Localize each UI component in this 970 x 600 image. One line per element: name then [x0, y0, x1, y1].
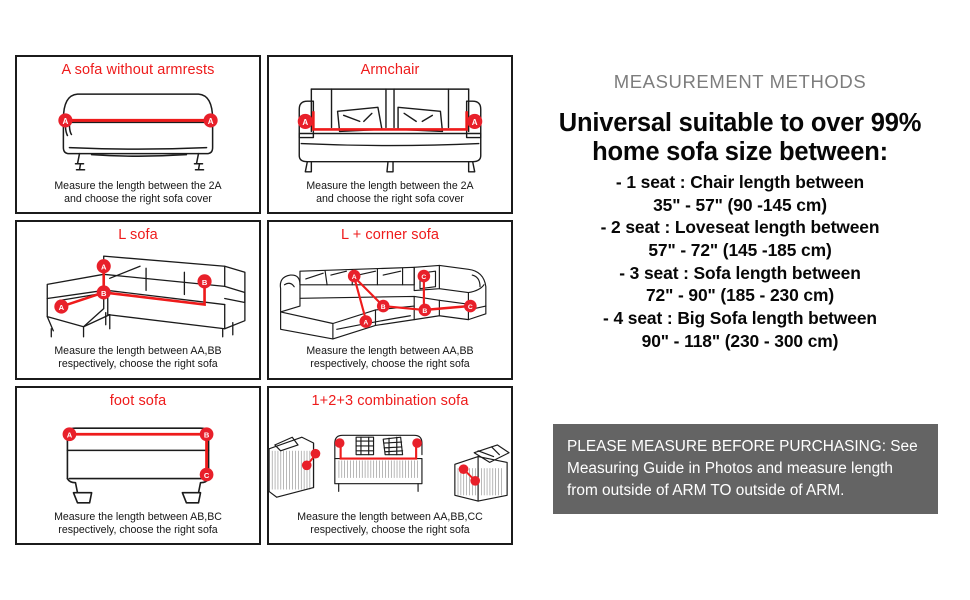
measure-marker-a-front: A	[360, 316, 373, 329]
svg-text:B: B	[204, 430, 210, 439]
infographic-root: A sofa without armrests	[0, 0, 970, 600]
svg-text:A: A	[59, 303, 65, 312]
measure-marker-c-right-chair-bottom	[470, 476, 480, 486]
sofa-type-grid: A sofa without armrests	[15, 55, 513, 545]
headline-line-2: home sofa size between:	[520, 138, 960, 167]
svg-text:A: A	[208, 117, 214, 126]
svg-text:B: B	[101, 289, 107, 298]
measure-marker-c-right: C	[464, 300, 477, 313]
svg-text:A: A	[472, 118, 478, 127]
svg-text:B: B	[422, 308, 427, 315]
measure-marker-b-right: B	[197, 275, 211, 289]
svg-text:B: B	[202, 278, 208, 287]
right-text-column: MEASUREMENT METHODS Universal suitable t…	[520, 55, 960, 555]
l-corner-sofa-illustration: A A B B C	[269, 244, 511, 345]
panel-title: L sofa	[118, 228, 158, 244]
measure-marker-a-left: A	[298, 114, 313, 129]
panel-armchair: Armchair	[267, 55, 513, 214]
svg-text:A: A	[302, 118, 308, 127]
l-sofa-illustration: A A B B	[17, 244, 259, 345]
panel-caption: Measure the length between the 2A and ch…	[48, 180, 227, 212]
panel-title: A sofa without armrests	[62, 63, 215, 79]
foot-sofa-illustration: A B C	[17, 410, 259, 511]
measure-marker-a-left-chair-top	[311, 448, 321, 458]
spec-line: - 4 seat : Big Sofa length between	[520, 307, 960, 330]
panel-title: Armchair	[361, 63, 420, 79]
spec-line: 57" - 72" (145 -185 cm)	[520, 239, 960, 262]
svg-text:A: A	[352, 274, 357, 281]
spec-line: - 2 seat : Loveseat length between	[520, 216, 960, 239]
panel-combination-sofa: 1+2+3 combination sofa	[267, 386, 513, 545]
spec-line: 35" - 57" (90 -145 cm)	[520, 194, 960, 217]
measure-marker-a-right: A	[204, 113, 218, 127]
combination-sofa-illustration	[269, 410, 511, 511]
size-spec-list: - 1 seat : Chair length between 35" - 57…	[520, 171, 960, 352]
armchair-illustration: A A	[269, 79, 511, 180]
headline-line-1: Universal suitable to over 99%	[520, 109, 960, 138]
spec-line: 90" - 118" (230 - 300 cm)	[520, 330, 960, 353]
panel-caption: Measure the length between AA,BB respect…	[48, 345, 227, 377]
measure-marker-b-sofa-right	[412, 438, 422, 448]
panel-title: L + corner sofa	[341, 228, 439, 244]
measure-marker-a: A	[63, 427, 77, 441]
panel-title: foot sofa	[110, 394, 167, 410]
svg-text:A: A	[101, 263, 107, 272]
panel-title: 1+2+3 combination sofa	[312, 394, 469, 410]
measure-marker-a-top: A	[97, 259, 111, 273]
measure-marker-b-corner: B	[97, 286, 111, 300]
spec-line: 72" - 90" (185 - 230 cm)	[520, 284, 960, 307]
page-title: Universal suitable to over 99% home sofa…	[520, 109, 960, 167]
measure-marker-b-left: B	[377, 300, 390, 313]
svg-text:A: A	[62, 117, 68, 126]
panel-l-corner-sofa: L + corner sofa	[267, 220, 513, 379]
svg-text:A: A	[363, 320, 368, 327]
measure-notice-banner: PLEASE MEASURE BEFORE PURCHASING: See Me…	[553, 424, 938, 514]
panel-caption: Measure the length between the 2A and ch…	[300, 180, 479, 212]
panel-foot-sofa: foot sofa A	[15, 386, 261, 545]
measure-marker-b-right: B	[419, 304, 432, 317]
panel-l-sofa: L sofa	[15, 220, 261, 379]
measure-marker-a-back: A	[348, 270, 361, 283]
measure-marker-c: C	[200, 467, 214, 481]
measure-marker-c-right-chair-top	[459, 464, 469, 474]
panel-caption: Measure the length between AA,BB respect…	[300, 345, 479, 377]
section-kicker: MEASUREMENT METHODS	[520, 71, 960, 93]
svg-text:B: B	[381, 304, 386, 311]
spec-line: - 1 seat : Chair length between	[520, 171, 960, 194]
measure-marker-a-chaise: A	[54, 300, 68, 314]
sofa-without-armrests-illustration: A A	[17, 79, 259, 180]
panel-caption: Measure the length between AB,BC respect…	[48, 511, 228, 543]
measure-marker-b: B	[200, 427, 214, 441]
measure-marker-a-right: A	[467, 114, 482, 129]
measure-marker-a-left: A	[58, 113, 72, 127]
svg-text:A: A	[67, 430, 73, 439]
panel-caption: Measure the length between AA,BB,CC resp…	[291, 511, 489, 543]
svg-text:C: C	[421, 274, 426, 281]
spec-line: - 3 seat : Sofa length between	[520, 262, 960, 285]
panel-sofa-without-armrests: A sofa without armrests	[15, 55, 261, 214]
svg-text:C: C	[468, 304, 473, 311]
svg-text:C: C	[204, 471, 210, 480]
measure-marker-c-top: C	[418, 270, 431, 283]
measure-marker-a-left-chair-bottom	[302, 460, 312, 470]
measure-marker-b-sofa-left	[335, 438, 345, 448]
